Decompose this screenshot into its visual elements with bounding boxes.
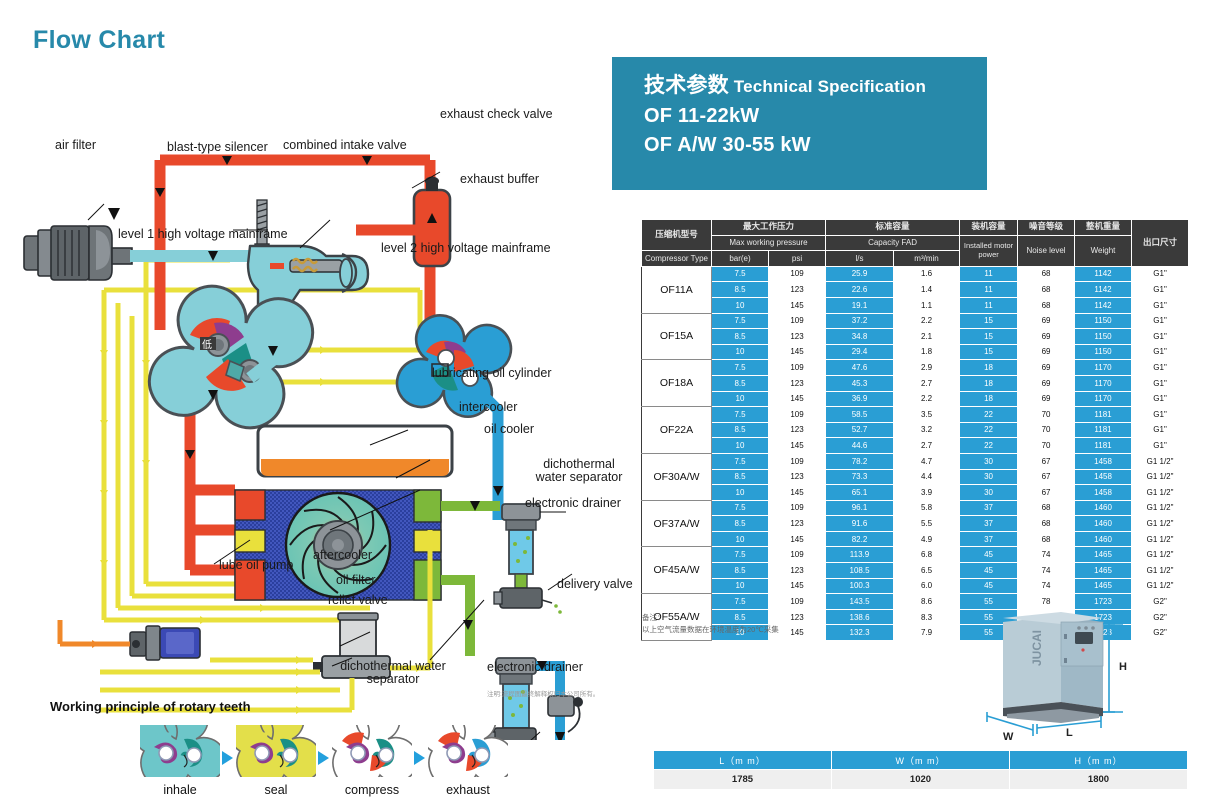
- value-cell-highlight: 96.1: [826, 500, 894, 516]
- value-cell-highlight: 15: [960, 344, 1018, 360]
- value-cell-highlight: 1458: [1075, 453, 1132, 469]
- value-cell: 69: [1018, 391, 1075, 407]
- table-row: 1014529.41.815691150G1": [642, 344, 1189, 360]
- table-row: 8.512345.32.718691170G1": [642, 375, 1189, 391]
- label-delivery-valve: delivery valve: [557, 577, 633, 591]
- rotor-glyph-compress: [332, 725, 412, 777]
- value-cell-highlight: 7.5: [712, 453, 769, 469]
- dim-header-0: L（m m）: [654, 751, 832, 770]
- value-cell-highlight: 1181: [1075, 407, 1132, 423]
- th-unit-psi: psi: [769, 251, 826, 267]
- value-cell: 8.6: [894, 594, 960, 610]
- dim-header-1: W（m m）: [832, 751, 1010, 770]
- outlet-cell: G1": [1132, 266, 1189, 282]
- value-cell: 70: [1018, 407, 1075, 423]
- value-cell-highlight: 22.6: [826, 282, 894, 298]
- value-cell: 145: [769, 391, 826, 407]
- value-cell-highlight: 1465: [1075, 563, 1132, 579]
- product-figure: JUCAI H L W: [963, 608, 1191, 746]
- outlet-cell: G1": [1132, 329, 1189, 345]
- outlet-cell: G1 1/2": [1132, 578, 1189, 594]
- value-cell-highlight: 1465: [1075, 578, 1132, 594]
- value-cell: 8.3: [894, 609, 960, 625]
- table-body: OF11A7.510925.91.611681142G1"8.512322.61…: [642, 266, 1189, 640]
- table-row: OF37A/W7.510996.15.837681460G1 1/2": [642, 500, 1189, 516]
- page-title: Flow Chart: [33, 26, 165, 55]
- value-cell-highlight: 113.9: [826, 547, 894, 563]
- table-row: 8.5123108.56.545741465G1 1/2": [642, 563, 1189, 579]
- level1-mainframe-glyph: 低: [149, 286, 312, 428]
- value-cell-highlight: 30: [960, 485, 1018, 501]
- value-cell-highlight: 25.9: [826, 266, 894, 282]
- spec-banner: 技术参数 Technical Specification OF 11-22kW …: [612, 57, 987, 190]
- dimension-table-head: L（m m）W（m m）H（m m）: [654, 751, 1188, 770]
- th-model-en: Compressor Type: [642, 251, 712, 267]
- table-row: 1014536.92.218691170G1": [642, 391, 1189, 407]
- value-cell-highlight: 7.5: [712, 500, 769, 516]
- value-cell-highlight: 1181: [1075, 438, 1132, 454]
- value-cell-highlight: 7.5: [712, 594, 769, 610]
- label-level1-mainframe: level 1 high voltage mainframe: [118, 227, 288, 241]
- value-cell: 2.2: [894, 391, 960, 407]
- th-noise-en: Noise level: [1018, 235, 1075, 266]
- value-cell-highlight: 91.6: [826, 516, 894, 532]
- value-cell-highlight: 1181: [1075, 422, 1132, 438]
- outlet-cell: G1": [1132, 407, 1189, 423]
- value-cell-highlight: 30: [960, 453, 1018, 469]
- value-cell: 109: [769, 313, 826, 329]
- banner-line3: OF A/W 30-55 kW: [644, 131, 987, 160]
- value-cell: 2.1: [894, 329, 960, 345]
- rotary-stage-label: compress: [332, 783, 412, 797]
- value-cell-highlight: 1170: [1075, 360, 1132, 376]
- label-exhaust-check-valve: exhaust check valve: [440, 107, 553, 121]
- label-exhaust-buffer: exhaust buffer: [460, 172, 539, 186]
- dim-value-2: 1800: [1010, 770, 1188, 790]
- value-cell: 145: [769, 438, 826, 454]
- value-cell: 109: [769, 360, 826, 376]
- value-cell: 69: [1018, 313, 1075, 329]
- table-row: 1014565.13.930671458G1 1/2": [642, 485, 1189, 501]
- model-cell: OF22A: [642, 407, 712, 454]
- value-cell: 69: [1018, 360, 1075, 376]
- value-cell-highlight: 44.6: [826, 438, 894, 454]
- value-cell-highlight: 100.3: [826, 578, 894, 594]
- label-water-separator-upper: dichothermal water separator: [533, 458, 625, 484]
- value-cell-highlight: 7.5: [712, 266, 769, 282]
- value-cell-highlight: 10: [712, 438, 769, 454]
- model-cell: OF15A: [642, 313, 712, 360]
- label-blast-type-silencer: blast-type silencer: [167, 140, 268, 154]
- value-cell-highlight: 108.5: [826, 563, 894, 579]
- value-cell: 3.9: [894, 485, 960, 501]
- value-cell-highlight: 37: [960, 500, 1018, 516]
- label-relief-valve: relief valve: [328, 593, 388, 607]
- dimension-table: L（m m）W（m m）H（m m） 178510201800: [653, 750, 1188, 790]
- outlet-cell: G1 1/2": [1132, 500, 1189, 516]
- table-row: 10145100.36.045741465G1 1/2": [642, 578, 1189, 594]
- model-cell: OF11A: [642, 266, 712, 313]
- dim-letter-l: L: [1066, 727, 1073, 739]
- table-row: OF22A7.510958.53.522701181G1": [642, 407, 1189, 423]
- label-lubricating-oil-cylinder: lubricating oil cylinder: [432, 366, 552, 380]
- value-cell: 109: [769, 500, 826, 516]
- flow-diagram-svg: 低: [0, 60, 610, 740]
- value-cell: 68: [1018, 516, 1075, 532]
- stage-arrow-icon: [222, 751, 233, 765]
- value-cell-highlight: 15: [960, 329, 1018, 345]
- value-cell-highlight: 45: [960, 578, 1018, 594]
- value-cell: 70: [1018, 438, 1075, 454]
- value-cell: 145: [769, 531, 826, 547]
- value-cell: 70: [1018, 422, 1075, 438]
- outlet-cell: G1 1/2": [1132, 469, 1189, 485]
- value-cell: 109: [769, 547, 826, 563]
- table-row: 1014582.24.937681460G1 1/2": [642, 531, 1189, 547]
- value-cell-highlight: 8.5: [712, 563, 769, 579]
- value-cell-highlight: 8.5: [712, 282, 769, 298]
- value-cell: 123: [769, 516, 826, 532]
- label-air-filter: air filter: [55, 138, 96, 152]
- table-row: OF15A7.510937.22.215691150G1": [642, 313, 1189, 329]
- model-cell: OF45A/W: [642, 547, 712, 594]
- value-cell: 123: [769, 422, 826, 438]
- value-cell-highlight: 37: [960, 531, 1018, 547]
- model-cell: OF37A/W: [642, 500, 712, 547]
- value-cell: 2.7: [894, 438, 960, 454]
- value-cell: 2.7: [894, 375, 960, 391]
- value-cell: 68: [1018, 297, 1075, 313]
- value-cell: 69: [1018, 329, 1075, 345]
- value-cell: 78: [1018, 594, 1075, 610]
- value-cell-highlight: 45: [960, 563, 1018, 579]
- table-row: 8.512334.82.115691150G1": [642, 329, 1189, 345]
- value-cell: 123: [769, 375, 826, 391]
- value-cell-highlight: 138.6: [826, 609, 894, 625]
- value-cell: 4.4: [894, 469, 960, 485]
- label-electronic-drainer-lower: electronic drainer: [487, 660, 583, 674]
- th-weight-en: Weight: [1075, 235, 1132, 266]
- outlet-cell: G1 1/2": [1132, 563, 1189, 579]
- th-noise-cn: 噪音等级: [1018, 220, 1075, 236]
- value-cell: 2.9: [894, 360, 960, 376]
- stage-arrow-icon: [414, 751, 425, 765]
- value-cell: 1.6: [894, 266, 960, 282]
- th-outlet-cn: 出口尺寸: [1132, 220, 1189, 267]
- oil-cylinder-glyph: [258, 426, 452, 476]
- value-cell: 109: [769, 266, 826, 282]
- value-cell-highlight: 11: [960, 297, 1018, 313]
- value-cell-highlight: 22: [960, 407, 1018, 423]
- value-cell-highlight: 22: [960, 422, 1018, 438]
- rotor-glyph-exhaust: [428, 725, 508, 777]
- value-cell-highlight: 29.4: [826, 344, 894, 360]
- label-oil-cooler: oil cooler: [484, 422, 534, 436]
- flow-diagram: 低: [0, 60, 610, 740]
- value-cell: 1.4: [894, 282, 960, 298]
- outlet-cell: G2": [1132, 594, 1189, 610]
- table-row: OF30A/W7.510978.24.730671458G1 1/2": [642, 453, 1189, 469]
- value-cell: 74: [1018, 563, 1075, 579]
- value-cell: 3.2: [894, 422, 960, 438]
- value-cell-highlight: 132.3: [826, 625, 894, 641]
- value-cell-highlight: 1460: [1075, 531, 1132, 547]
- value-cell: 145: [769, 297, 826, 313]
- value-cell-highlight: 52.7: [826, 422, 894, 438]
- specification-table: 压缩机型号 最大工作压力 标准容量 装机容量 噪音等级 整机重量 出口尺寸 Ma…: [641, 219, 1189, 641]
- air-filter-glyph: [24, 208, 132, 280]
- value-cell-highlight: 37.2: [826, 313, 894, 329]
- value-cell: 67: [1018, 469, 1075, 485]
- label-intercooler: intercooler: [459, 400, 517, 414]
- rotary-principle-heading: Working principle of rotary teeth: [50, 699, 251, 714]
- value-cell-highlight: 1458: [1075, 485, 1132, 501]
- outlet-cell: G1": [1132, 297, 1189, 313]
- th-pressure-en: Max working pressure: [712, 235, 826, 251]
- value-cell: 123: [769, 469, 826, 485]
- value-cell-highlight: 18: [960, 360, 1018, 376]
- value-cell-highlight: 1142: [1075, 282, 1132, 298]
- outlet-cell: G1": [1132, 344, 1189, 360]
- table-row: OF11A7.510925.91.611681142G1": [642, 266, 1189, 282]
- copyright-note: 注明:流程图最终解释权归本公司所有。: [487, 688, 599, 698]
- svg-text:低: 低: [202, 338, 212, 351]
- lube-oil-pump-glyph: [130, 626, 200, 660]
- rotary-stage-exhaust: exhaust: [428, 725, 508, 797]
- th-capacity-cn: 标准容量: [826, 220, 960, 236]
- value-cell-highlight: 82.2: [826, 531, 894, 547]
- value-cell-highlight: 1460: [1075, 500, 1132, 516]
- value-cell-highlight: 1465: [1075, 547, 1132, 563]
- value-cell-highlight: 10: [712, 578, 769, 594]
- dim-letter-h: H: [1119, 661, 1127, 673]
- th-weight-cn: 整机重量: [1075, 220, 1132, 236]
- value-cell: 123: [769, 282, 826, 298]
- value-cell: 6.8: [894, 547, 960, 563]
- table-row: 8.512352.73.222701181G1": [642, 422, 1189, 438]
- outlet-cell: G1": [1132, 313, 1189, 329]
- value-cell-highlight: 8.5: [712, 469, 769, 485]
- value-cell: 69: [1018, 375, 1075, 391]
- th-power-en: Installed motor power: [960, 235, 1018, 266]
- th-power-cn: 装机容量: [960, 220, 1018, 236]
- outlet-cell: G1": [1132, 375, 1189, 391]
- label-level2-mainframe: level 2 high voltage mainframe: [381, 241, 551, 255]
- value-cell: 74: [1018, 547, 1075, 563]
- rotary-stage-seal: seal: [236, 725, 316, 797]
- rotary-stage-row: inhalesealcompressexhaust: [140, 725, 540, 805]
- value-cell: 145: [769, 485, 826, 501]
- footnote-line1: 备注：: [642, 612, 779, 624]
- value-cell-highlight: 18: [960, 375, 1018, 391]
- value-cell: 5.8: [894, 500, 960, 516]
- value-cell-highlight: 7.5: [712, 407, 769, 423]
- value-cell-highlight: 10: [712, 344, 769, 360]
- model-cell: OF30A/W: [642, 453, 712, 500]
- value-cell: 145: [769, 344, 826, 360]
- rotary-stage-compress: compress: [332, 725, 412, 797]
- product-brand: JUCAI: [1030, 630, 1044, 666]
- value-cell-highlight: 19.1: [826, 297, 894, 313]
- value-cell-highlight: 22: [960, 438, 1018, 454]
- value-cell: 145: [769, 578, 826, 594]
- value-cell-highlight: 11: [960, 282, 1018, 298]
- outlet-cell: G1 1/2": [1132, 547, 1189, 563]
- value-cell: 7.9: [894, 625, 960, 641]
- dimension-table-row: 178510201800: [654, 770, 1188, 790]
- value-cell: 67: [1018, 485, 1075, 501]
- value-cell-highlight: 47.6: [826, 360, 894, 376]
- banner-title-en: Technical Specification: [734, 77, 926, 96]
- outlet-cell: G1": [1132, 282, 1189, 298]
- dim-letter-w: W: [1003, 731, 1014, 743]
- model-cell: OF18A: [642, 360, 712, 407]
- th-unit-m3: m³/min: [894, 251, 960, 267]
- value-cell-highlight: 7.5: [712, 360, 769, 376]
- table-row: 1014544.62.722701181G1": [642, 438, 1189, 454]
- dim-value-0: 1785: [654, 770, 832, 790]
- value-cell: 67: [1018, 453, 1075, 469]
- product-figure-svg: JUCAI H L W: [963, 608, 1191, 746]
- value-cell-highlight: 10: [712, 485, 769, 501]
- outlet-cell: G1 1/2": [1132, 531, 1189, 547]
- value-cell-highlight: 10: [712, 391, 769, 407]
- value-cell: 6.5: [894, 563, 960, 579]
- outlet-cell: G1 1/2": [1132, 516, 1189, 532]
- value-cell-highlight: 1723: [1075, 594, 1132, 610]
- th-model-cn: 压缩机型号: [642, 220, 712, 251]
- table-row: 8.512373.34.430671458G1 1/2": [642, 469, 1189, 485]
- value-cell-highlight: 30: [960, 469, 1018, 485]
- value-cell-highlight: 8.5: [712, 516, 769, 532]
- value-cell-highlight: 11: [960, 266, 1018, 282]
- value-cell-highlight: 45: [960, 547, 1018, 563]
- banner-title-cn: 技术参数: [644, 74, 729, 97]
- value-cell: 68: [1018, 266, 1075, 282]
- value-cell: 109: [769, 407, 826, 423]
- label-oil-filter: oil filter: [336, 573, 376, 587]
- value-cell-highlight: 8.5: [712, 375, 769, 391]
- value-cell-highlight: 18: [960, 391, 1018, 407]
- spec-footnote: 备注： 以上空气流量数据在环境温度为20℃采集: [642, 612, 779, 636]
- th-unit-ls: l/s: [826, 251, 894, 267]
- electronic-drainer-upper-glyph: [494, 588, 562, 614]
- value-cell-highlight: 1150: [1075, 329, 1132, 345]
- value-cell-highlight: 1142: [1075, 297, 1132, 313]
- value-cell: 3.5: [894, 407, 960, 423]
- value-cell: 74: [1018, 578, 1075, 594]
- rotary-stage-label: inhale: [140, 783, 220, 797]
- table-row: 8.512391.65.537681460G1 1/2": [642, 516, 1189, 532]
- value-cell: 6.0: [894, 578, 960, 594]
- table-row: OF18A7.510947.62.918691170G1": [642, 360, 1189, 376]
- table-row: 1014519.11.111681142G1": [642, 297, 1189, 313]
- value-cell-highlight: 65.1: [826, 485, 894, 501]
- table-row: OF45A/W7.5109113.96.845741465G1 1/2": [642, 547, 1189, 563]
- value-cell-highlight: 37: [960, 516, 1018, 532]
- rotary-stage-label: exhaust: [428, 783, 508, 797]
- table-row: OF55A/W7.5109143.58.655781723G2": [642, 594, 1189, 610]
- value-cell-highlight: 36.9: [826, 391, 894, 407]
- th-capacity-en: Capacity FAD: [826, 235, 960, 251]
- value-cell: 123: [769, 329, 826, 345]
- value-cell-highlight: 7.5: [712, 547, 769, 563]
- water-separator-upper-glyph: [502, 504, 540, 588]
- value-cell-highlight: 55: [960, 594, 1018, 610]
- label-electronic-drainer-upper: electronic drainer: [525, 496, 621, 510]
- value-cell-highlight: 73.3: [826, 469, 894, 485]
- value-cell: 109: [769, 594, 826, 610]
- table-head: 压缩机型号 最大工作压力 标准容量 装机容量 噪音等级 整机重量 出口尺寸 Ma…: [642, 220, 1189, 267]
- value-cell: 109: [769, 453, 826, 469]
- rotor-glyph-inhale: [140, 725, 220, 777]
- th-pressure-cn: 最大工作压力: [712, 220, 826, 236]
- value-cell: 69: [1018, 344, 1075, 360]
- stage-arrow-icon: [318, 751, 329, 765]
- value-cell: 123: [769, 563, 826, 579]
- label-water-separator-lower: dichothermal water separator: [332, 660, 454, 686]
- outlet-cell: G1": [1132, 391, 1189, 407]
- value-cell-highlight: 1150: [1075, 344, 1132, 360]
- label-aftercooler: aftercooler: [313, 548, 372, 562]
- outlet-cell: G1": [1132, 438, 1189, 454]
- rotary-stage-inhale: inhale: [140, 725, 220, 797]
- value-cell-highlight: 78.2: [826, 453, 894, 469]
- th-unit-bar: bar(e): [712, 251, 769, 267]
- banner-line2: OF 11-22kW: [644, 102, 987, 131]
- value-cell: 68: [1018, 282, 1075, 298]
- value-cell-highlight: 15: [960, 313, 1018, 329]
- value-cell: 68: [1018, 531, 1075, 547]
- value-cell: 5.5: [894, 516, 960, 532]
- dim-value-1: 1020: [832, 770, 1010, 790]
- value-cell-highlight: 10: [712, 531, 769, 547]
- value-cell-highlight: 45.3: [826, 375, 894, 391]
- outlet-cell: G1": [1132, 422, 1189, 438]
- value-cell: 4.7: [894, 453, 960, 469]
- outlet-cell: G1 1/2": [1132, 485, 1189, 501]
- value-cell-highlight: 1458: [1075, 469, 1132, 485]
- value-cell-highlight: 143.5: [826, 594, 894, 610]
- footnote-line2: 以上空气流量数据在环境温度为20℃采集: [642, 624, 779, 636]
- value-cell-highlight: 1170: [1075, 391, 1132, 407]
- value-cell-highlight: 34.8: [826, 329, 894, 345]
- value-cell: 4.9: [894, 531, 960, 547]
- dim-header-2: H（m m）: [1010, 751, 1188, 770]
- value-cell-highlight: 10: [712, 297, 769, 313]
- value-cell-highlight: 8.5: [712, 329, 769, 345]
- value-cell-highlight: 58.5: [826, 407, 894, 423]
- value-cell-highlight: 1170: [1075, 375, 1132, 391]
- rotor-glyph-seal: [236, 725, 316, 777]
- label-combined-intake-valve: combined intake valve: [283, 138, 407, 152]
- table-row: 8.512322.61.411681142G1": [642, 282, 1189, 298]
- value-cell: 1.1: [894, 297, 960, 313]
- value-cell-highlight: 1460: [1075, 516, 1132, 532]
- delivery-valve-glyph: [548, 696, 583, 732]
- value-cell: 68: [1018, 500, 1075, 516]
- value-cell-highlight: 8.5: [712, 422, 769, 438]
- outlet-cell: G1": [1132, 360, 1189, 376]
- label-lube-oil-pump: lube oil pump: [219, 558, 293, 572]
- value-cell: 1.8: [894, 344, 960, 360]
- value-cell-highlight: 1142: [1075, 266, 1132, 282]
- value-cell: 2.2: [894, 313, 960, 329]
- rotary-stage-label: seal: [236, 783, 316, 797]
- outlet-cell: G1 1/2": [1132, 453, 1189, 469]
- value-cell-highlight: 1150: [1075, 313, 1132, 329]
- value-cell-highlight: 7.5: [712, 313, 769, 329]
